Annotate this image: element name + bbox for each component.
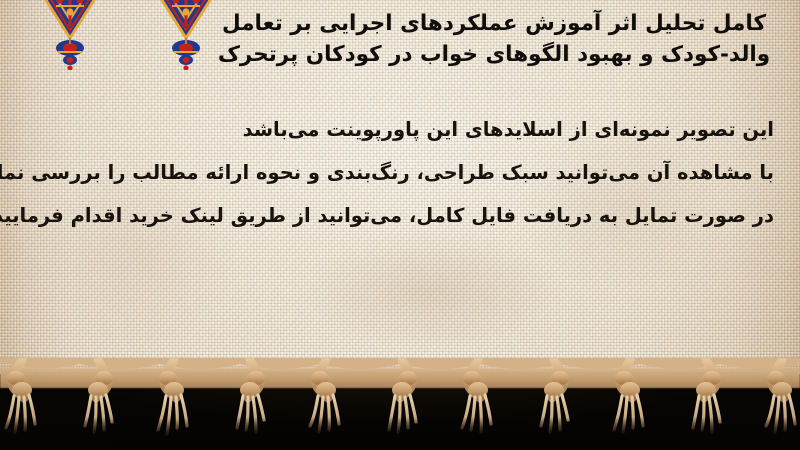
slide-title-line-1: کامل تحلیل اثر آموزش عملکردهای اجرایی بر…: [200, 8, 788, 39]
slide-canvas: کامل تحلیل اثر آموزش عملکردهای اجرایی بر…: [0, 0, 800, 450]
canvas-stain-center: [300, 230, 560, 350]
slide-body-line-2: با مشاهده آن می‌توانید سبک طراحی، رنگ‌بن…: [18, 151, 774, 194]
slide-title: کامل تحلیل اثر آموزش عملکردهای اجرایی بر…: [200, 8, 788, 70]
slide-body-text: این تصویر نمونه‌ای از اسلایدهای این پاور…: [18, 108, 774, 237]
slide-body-line-1: این تصویر نمونه‌ای از اسلایدهای این پاور…: [18, 108, 774, 151]
slide-body-line-3: در صورت تمایل به دریافت فایل کامل، می‌تو…: [18, 194, 774, 237]
carpet-selvage-edge: [0, 362, 800, 388]
persian-medallion-icon-left: [14, 0, 126, 70]
slide-title-line-2: والد-کودک و بهبود الگوهای خواب در کودکان…: [200, 39, 788, 70]
